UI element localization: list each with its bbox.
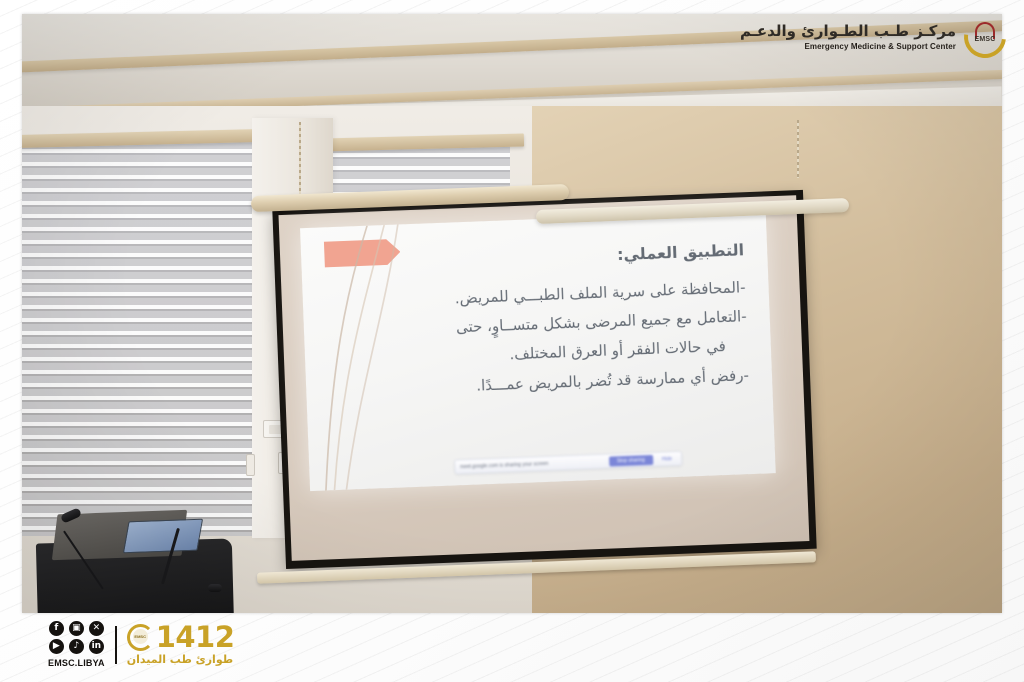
share-message: meet.google.com is sharing your screen [460, 459, 604, 471]
hotline-badge-icon: EMSC [127, 624, 154, 651]
screen-chain-right [797, 120, 799, 178]
microphone-head-right [208, 584, 222, 592]
header-brand: مركـز طـب الطـوارئ والدعـم Emergency Med… [740, 16, 1006, 58]
hotline-badge-label: EMSC [133, 629, 148, 644]
x-twitter-icon[interactable]: ✕ [89, 621, 104, 636]
instagram-icon[interactable]: ▣ [69, 621, 84, 636]
hotline-block: EMSC 1412 طوارئ طب الميدان [127, 623, 235, 666]
presentation-slide: التطبيق العملي: -المحافظة على سرية الملف… [300, 210, 776, 491]
brand-name-english: Emergency Medicine & Support Center [740, 42, 956, 51]
podium-tablet-screen [123, 519, 204, 554]
screen-surface: التطبيق العملي: -المحافظة على سرية الملف… [279, 195, 810, 561]
projector-screen: التطبيق العملي: -المحافظة على سرية الملف… [262, 190, 821, 580]
hide-button[interactable]: Hide [658, 456, 677, 463]
youtube-icon[interactable]: ▶ [49, 639, 64, 654]
slide-title: التطبيق العملي: [334, 240, 745, 275]
window-blinds-left [22, 136, 255, 536]
stop-sharing-button[interactable]: Stop sharing [608, 455, 652, 467]
wall-sensor [246, 454, 255, 476]
screen-share-notification[interactable]: meet.google.com is sharing your screen S… [453, 451, 682, 475]
emsc-logo-icon: EMSC [964, 16, 1006, 58]
hotline-number: 1412 [156, 623, 235, 652]
social-row-bottom: ▶ ♪ in [49, 639, 104, 654]
branded-frame: التطبيق العملي: -المحافظة على سرية الملف… [0, 0, 1024, 682]
footer-divider [115, 626, 117, 664]
social-row-top: f ▣ ✕ [49, 621, 104, 636]
social-links: f ▣ ✕ ▶ ♪ in EMSC.LIBYA [48, 621, 105, 668]
photograph: التطبيق العملي: -المحافظة على سرية الملف… [22, 14, 1002, 613]
header-brand-text: مركـز طـب الطـوارئ والدعـم Emergency Med… [740, 23, 956, 51]
brand-name-arabic: مركـز طـب الطـوارئ والدعـم [740, 23, 956, 40]
emsc-logo-label: EMSC [964, 36, 1006, 43]
screen-frame: التطبيق العملي: -المحافظة على سرية الملف… [272, 190, 816, 569]
slide-text-body: التطبيق العملي: -المحافظة على سرية الملف… [334, 240, 750, 406]
facebook-icon[interactable]: f [49, 621, 64, 636]
hotline-top-row: EMSC 1412 [127, 623, 235, 652]
screen-chain-left [299, 122, 301, 194]
hotline-caption: طوارئ طب الميدان [127, 653, 233, 666]
tiktok-icon[interactable]: ♪ [69, 639, 84, 654]
social-handle: EMSC.LIBYA [48, 658, 105, 668]
footer-brand: f ▣ ✕ ▶ ♪ in EMSC.LIBYA EMSC 1412 طوارئ … [48, 621, 234, 668]
linkedin-icon[interactable]: in [89, 639, 104, 654]
